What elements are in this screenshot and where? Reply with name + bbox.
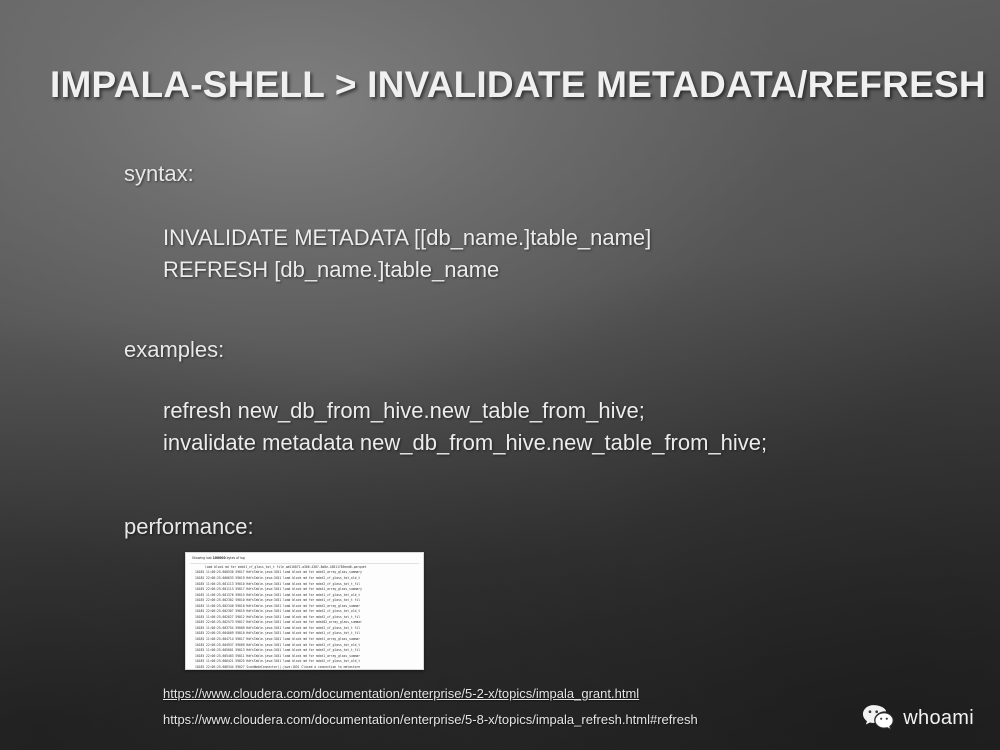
log-body: load block md for mdat1_cf_glass_tot_t f… [190, 565, 419, 670]
slide-canvas: IMPALA-SHELL > INVALIDATE METADATA/REFRE… [0, 0, 1000, 750]
example-line-1: refresh new_db_from_hive.new_table_from_… [163, 395, 767, 427]
examples-code-block: refresh new_db_from_hive.new_table_from_… [163, 395, 767, 459]
log-header-prefix: Showing last [192, 556, 213, 560]
log-screenshot-figure: Showing last 100000 bytes of log load bl… [185, 552, 424, 670]
wechat-icon [862, 704, 894, 732]
slide-title: IMPALA-SHELL > INVALIDATE METADATA/REFRE… [50, 64, 986, 106]
syntax-line-1: INVALIDATE METADATA [[db_name.]table_nam… [163, 222, 651, 254]
syntax-code-block: INVALIDATE METADATA [[db_name.]table_nam… [163, 222, 651, 286]
log-header-bytes: 100000 [213, 556, 226, 560]
wechat-watermark-label: whoami [903, 707, 974, 730]
footer-link-impala-grant[interactable]: https://www.cloudera.com/documentation/e… [163, 686, 639, 701]
section-label-examples: examples: [124, 337, 224, 363]
log-divider [190, 563, 419, 564]
syntax-line-2: REFRESH [db_name.]table_name [163, 254, 651, 286]
section-label-syntax: syntax: [124, 161, 194, 187]
example-line-2: invalidate metadata new_db_from_hive.new… [163, 427, 767, 459]
log-header-suffix: bytes of log [226, 556, 245, 560]
footer-link-impala-refresh[interactable]: https://www.cloudera.com/documentation/e… [163, 712, 698, 727]
log-line: 10185 22:06:25.606344 59027 ScanNodeConn… [195, 665, 419, 670]
log-header: Showing last 100000 bytes of log [190, 556, 419, 561]
section-label-performance: performance: [124, 514, 254, 540]
wechat-watermark: whoami [862, 704, 974, 732]
